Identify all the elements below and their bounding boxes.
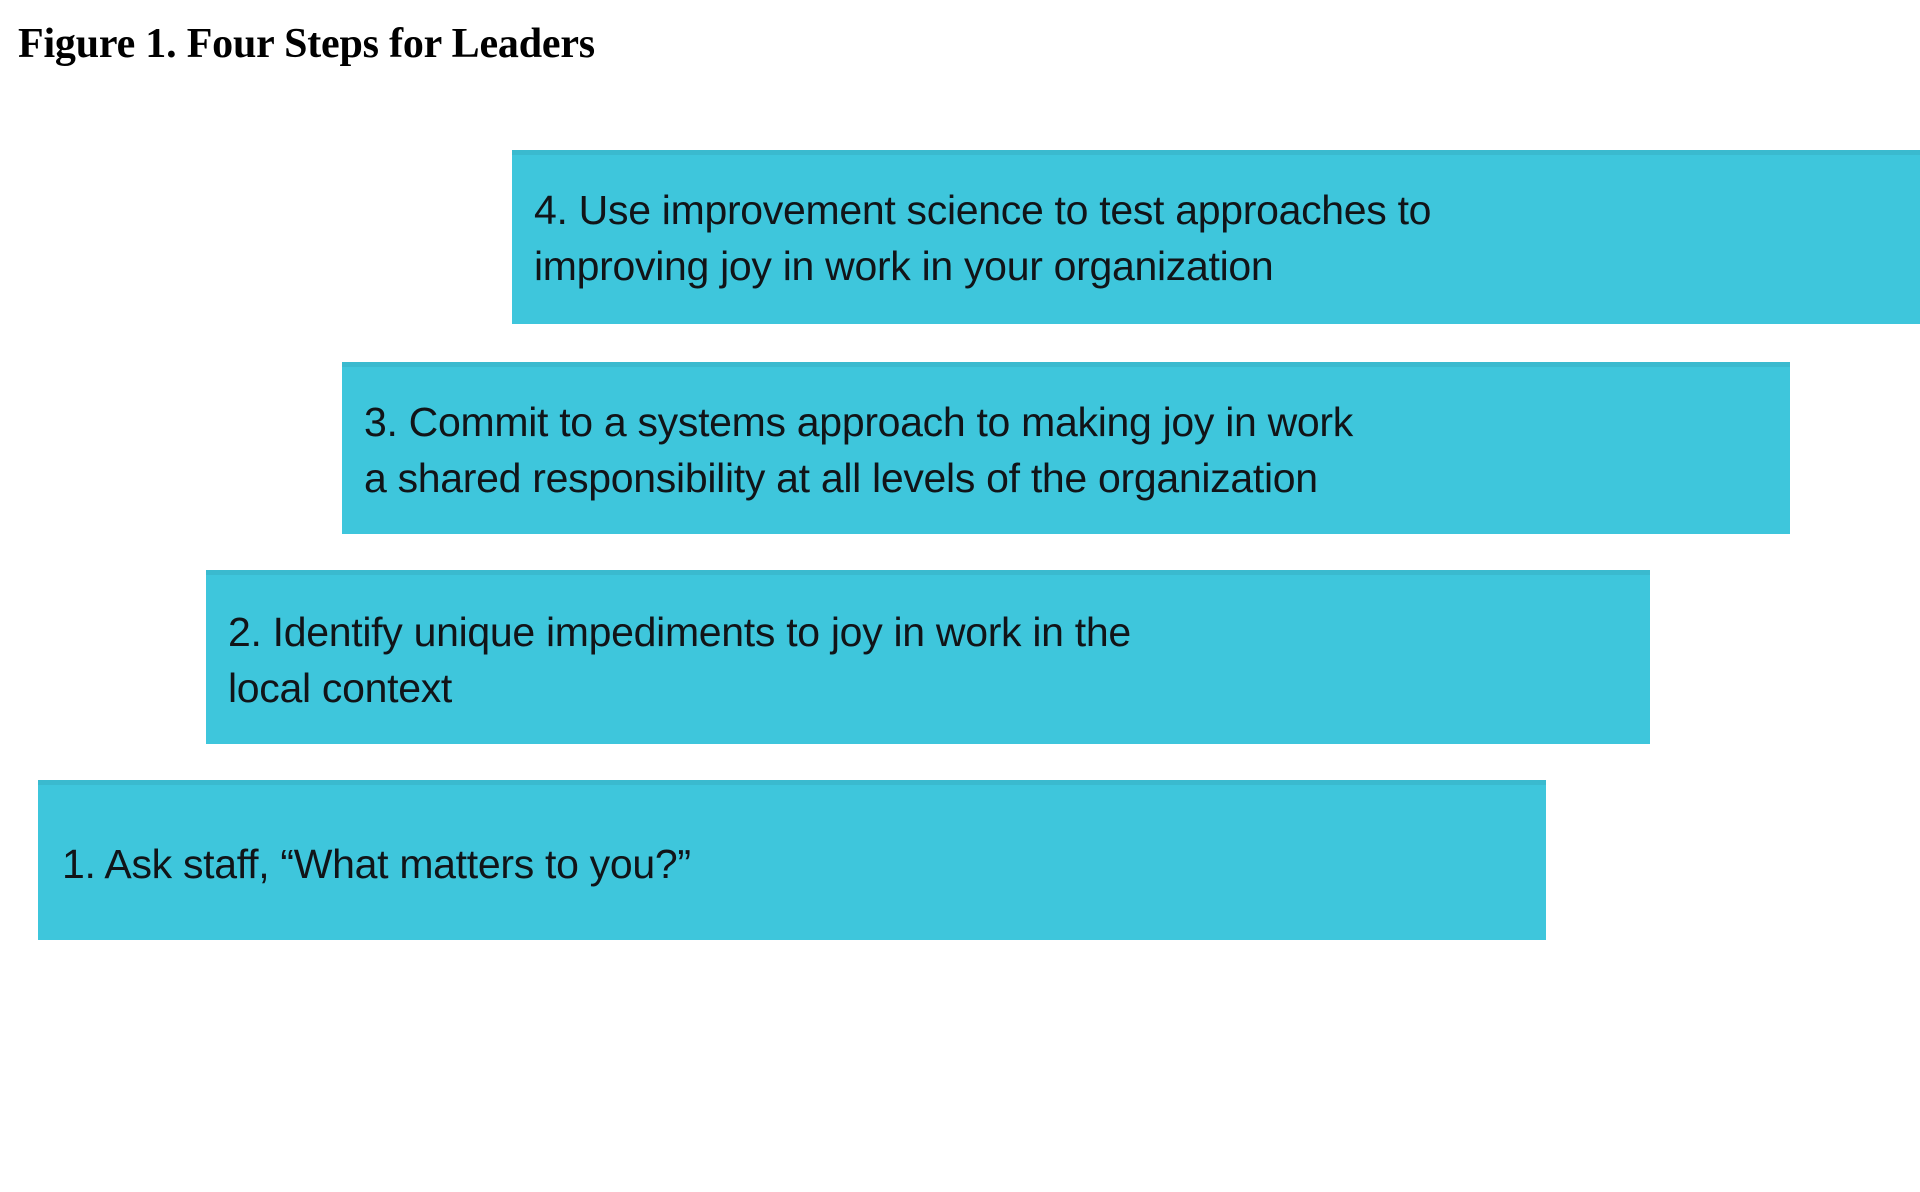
step-box-4: 4. Use improvement science to test appro… [512, 150, 1920, 324]
step-3-text: 3. Commit to a systems approach to makin… [342, 394, 1790, 506]
step-2-text: 2. Identify unique impediments to joy in… [206, 604, 1650, 716]
step-4-text: 4. Use improvement science to test appro… [512, 182, 1920, 294]
step-box-1: 1. Ask staff, “What matters to you?” [38, 780, 1546, 940]
figure-container: Figure 1. Four Steps for Leaders 4. Use … [0, 0, 1920, 1192]
steps-staircase: 4. Use improvement science to test appro… [0, 0, 1920, 1192]
step-box-2: 2. Identify unique impediments to joy in… [206, 570, 1650, 744]
step-box-3: 3. Commit to a systems approach to makin… [342, 362, 1790, 534]
step-1-text: 1. Ask staff, “What matters to you?” [38, 836, 1546, 892]
